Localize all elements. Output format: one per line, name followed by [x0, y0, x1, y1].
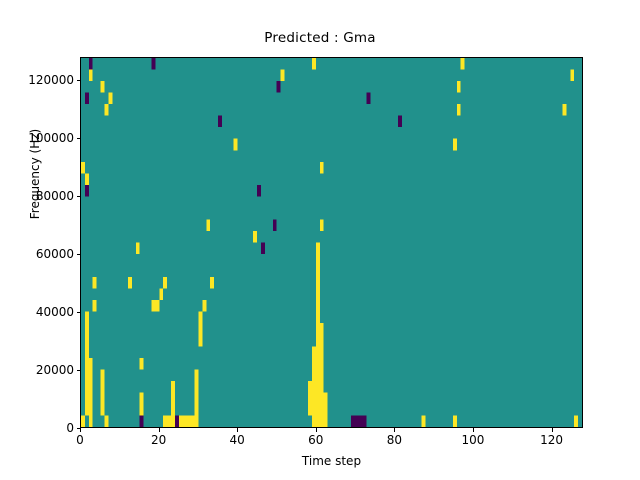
- y-tick-label: 20000: [36, 363, 74, 377]
- y-tick-mark: [77, 428, 81, 429]
- heatmap-plot-area: [80, 57, 583, 428]
- y-tick-mark: [77, 138, 81, 139]
- y-tick-mark: [77, 254, 81, 255]
- x-axis-label: Time step: [80, 454, 583, 468]
- heatmap-image: [81, 58, 582, 427]
- y-tick-mark: [77, 80, 81, 81]
- x-tick-mark: [316, 428, 317, 432]
- x-tick-label: 120: [540, 433, 563, 447]
- y-tick-mark: [77, 370, 81, 371]
- y-axis-label: Frequency (Hz): [28, 64, 42, 284]
- x-tick-label: 100: [462, 433, 485, 447]
- x-tick-mark: [237, 428, 238, 432]
- y-tick-label: 40000: [36, 305, 74, 319]
- x-tick-label: 60: [308, 433, 323, 447]
- y-tick-label: 0: [66, 421, 74, 435]
- x-tick-mark: [552, 428, 553, 432]
- x-tick-mark: [394, 428, 395, 432]
- x-tick-mark: [159, 428, 160, 432]
- x-tick-mark: [80, 428, 81, 432]
- x-tick-mark: [473, 428, 474, 432]
- x-tick-label: 20: [151, 433, 166, 447]
- y-tick-mark: [77, 196, 81, 197]
- page-title: Predicted : Gma: [0, 30, 640, 46]
- x-tick-label: 0: [76, 433, 84, 447]
- matplotlib-figure: Predicted : Gma 020406080100120 02000040…: [0, 0, 640, 480]
- y-tick-mark: [77, 312, 81, 313]
- x-tick-label: 40: [230, 433, 245, 447]
- x-tick-label: 80: [387, 433, 402, 447]
